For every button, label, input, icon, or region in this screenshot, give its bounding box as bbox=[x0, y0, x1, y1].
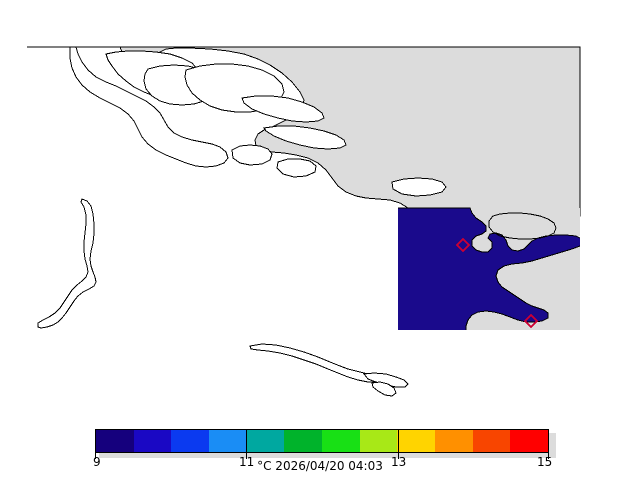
colorbar-segment-10 bbox=[473, 430, 511, 452]
colorbar-segment-7 bbox=[360, 430, 398, 452]
colorbar[interactable] bbox=[95, 429, 549, 453]
colorbar-segment-8 bbox=[397, 430, 435, 452]
colorbar-segment-0 bbox=[96, 430, 134, 452]
colorbar-segment-1 bbox=[134, 430, 172, 452]
colorbar-segment-5 bbox=[284, 430, 322, 452]
colorbar-segment-6 bbox=[322, 430, 360, 452]
colorbar-segment-11 bbox=[510, 430, 548, 452]
colorbar-segment-4 bbox=[247, 430, 285, 452]
weather-map-page: NanaimoWeather.ca -- Temperature bbox=[0, 0, 640, 480]
map-canvas[interactable] bbox=[0, 0, 640, 480]
colorbar-segment-2 bbox=[171, 430, 209, 452]
colorbar-segment-3 bbox=[209, 430, 247, 452]
colorbar-segment-9 bbox=[435, 430, 473, 452]
